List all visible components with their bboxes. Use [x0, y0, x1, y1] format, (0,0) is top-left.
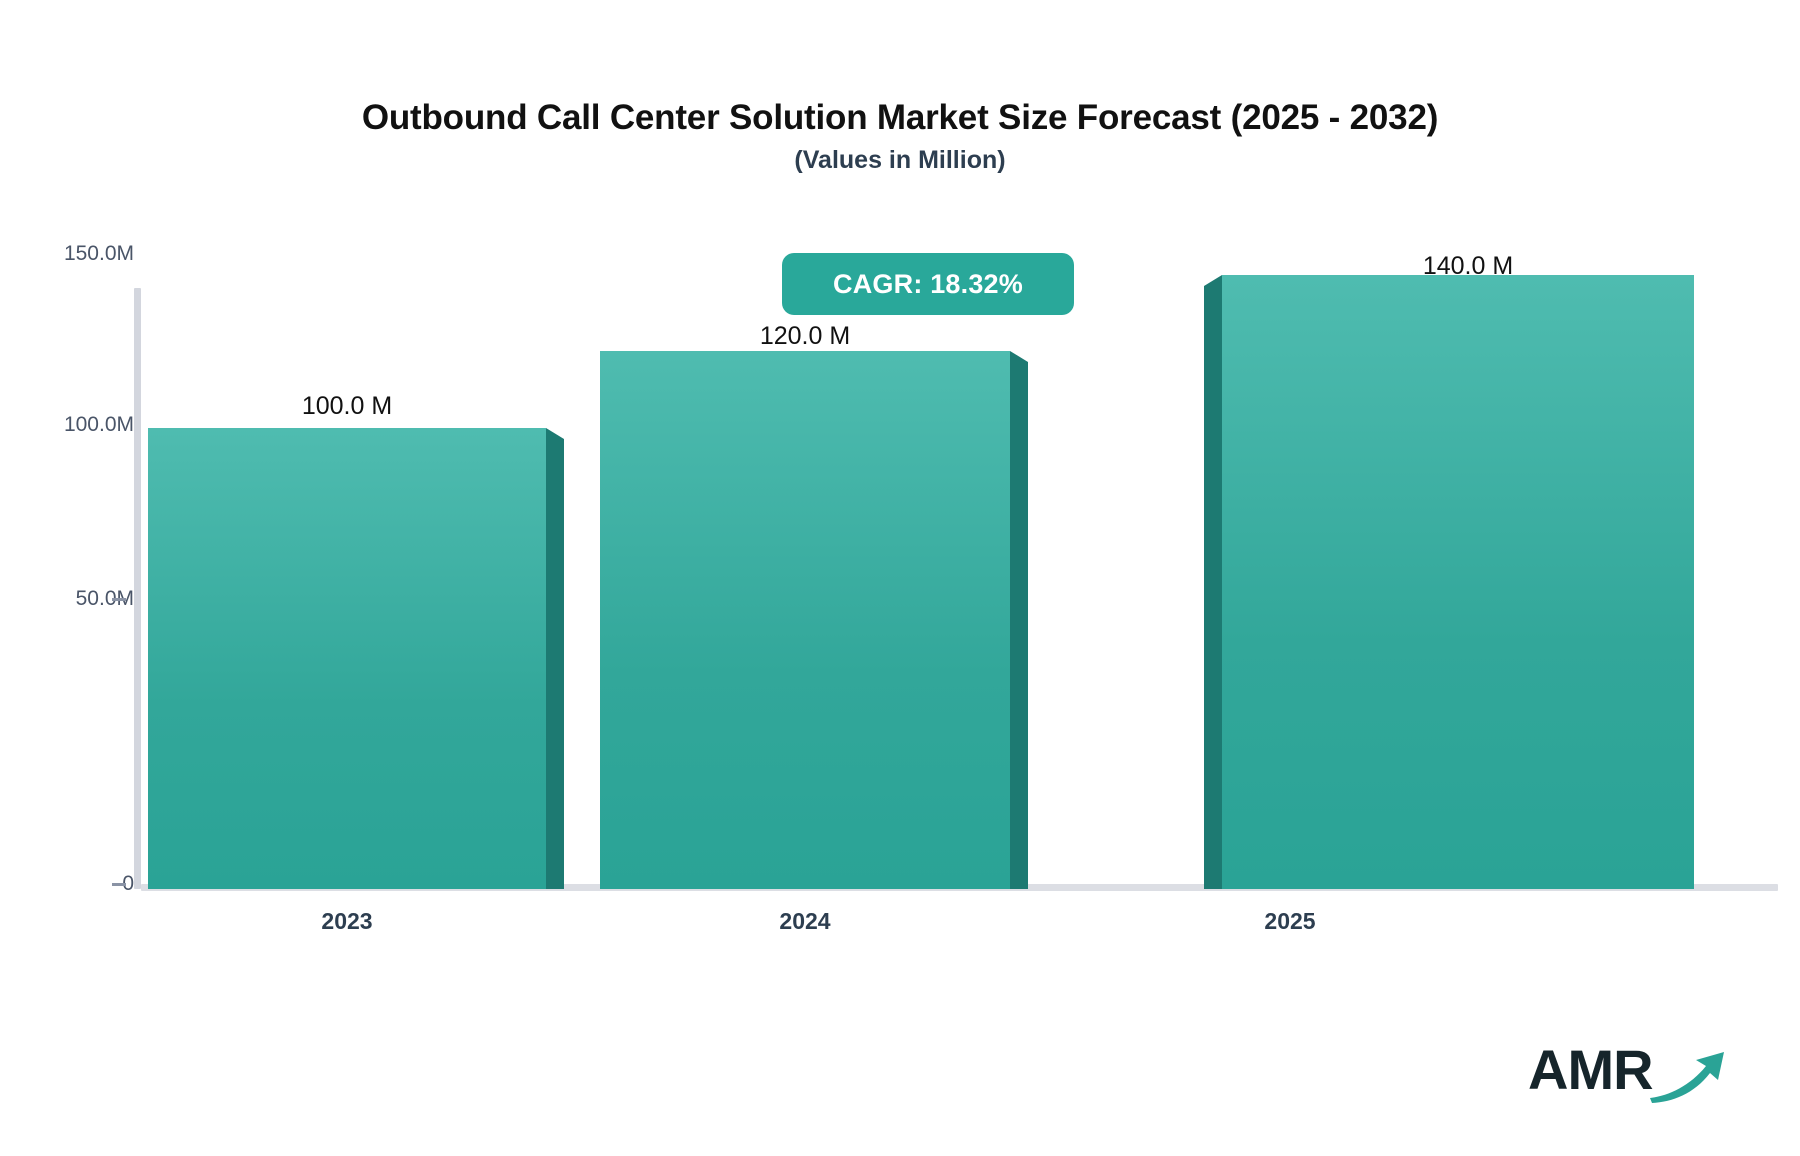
- bar-value-label-2025: 140.0 M: [1423, 252, 1513, 281]
- bar-face: [148, 428, 546, 889]
- bar-2024[interactable]: [600, 351, 1010, 889]
- x-tick-label-2025: 2025: [1264, 908, 1315, 935]
- x-tick-label-2023: 2023: [321, 908, 372, 935]
- bar-side-shadow: [546, 439, 564, 889]
- chart-page: Outbound Call Center Solution Market Siz…: [0, 0, 1800, 1156]
- amr-logo: AMR: [1528, 1040, 1728, 1120]
- y-tick-mark: [112, 598, 126, 601]
- bar-face: [1222, 275, 1694, 889]
- bar-side-cap: [1204, 275, 1222, 286]
- bar-side-cap: [546, 428, 564, 439]
- bar-value-label-2023: 100.0 M: [302, 392, 392, 421]
- bar-face: [600, 351, 1010, 889]
- y-tick-mark: [112, 883, 126, 886]
- bar-2023[interactable]: [148, 428, 546, 889]
- bar-side-shadow: [1204, 286, 1222, 889]
- bar-value-label-2024: 120.0 M: [760, 322, 850, 351]
- y-tick-label: 150.0M: [14, 242, 134, 266]
- growth-arrow-icon: [1648, 1046, 1728, 1106]
- bar-side-shadow: [1010, 362, 1028, 889]
- bar-2025[interactable]: [1222, 275, 1694, 889]
- y-tick-label: 100.0M: [14, 413, 134, 437]
- bar-side-cap: [1010, 351, 1028, 362]
- plot-area: 150.0M 100.0M 50.0M 0 100.0 M 120.0 M: [0, 0, 1800, 1156]
- y-axis-line: [134, 288, 141, 889]
- amr-logo-text: AMR: [1528, 1040, 1653, 1100]
- x-tick-label-2024: 2024: [779, 908, 830, 935]
